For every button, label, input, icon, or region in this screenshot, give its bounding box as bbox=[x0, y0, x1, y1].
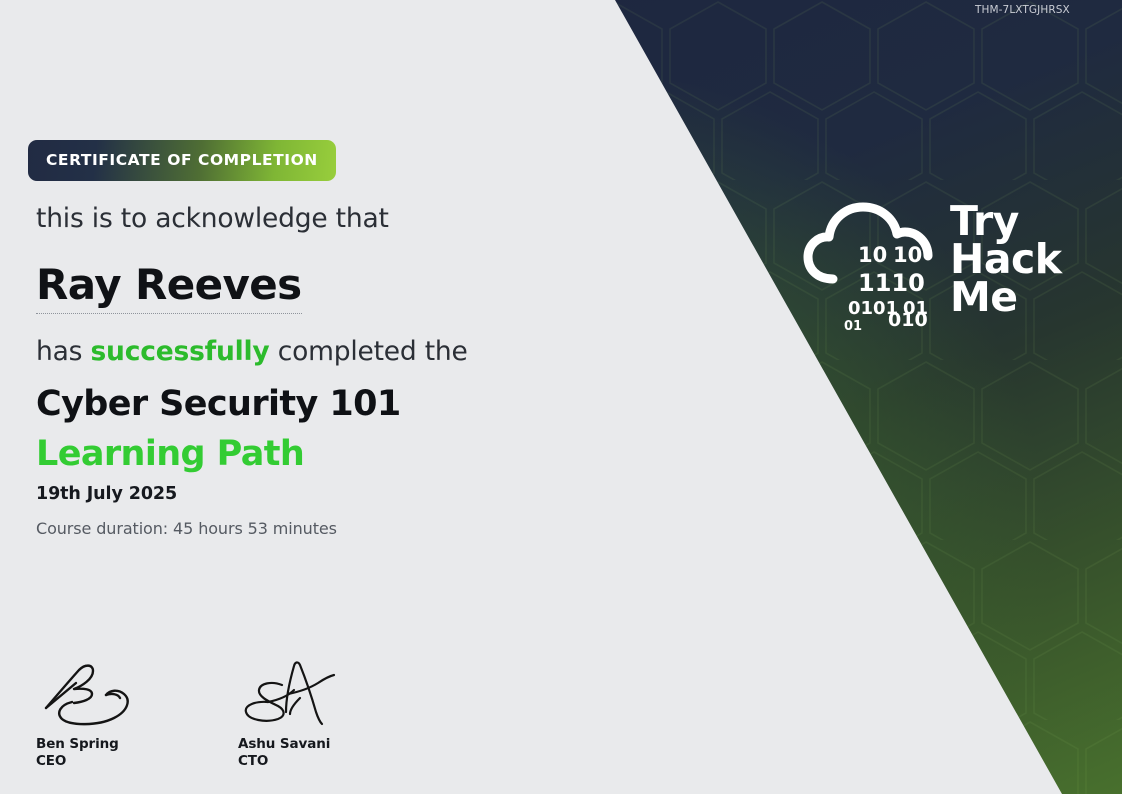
svg-text:010: 010 bbox=[888, 309, 928, 331]
signature-role-cto: CTO bbox=[238, 753, 358, 770]
wordmark-line-me: Me bbox=[950, 278, 1062, 316]
svg-text:10: 10 bbox=[893, 243, 922, 267]
recipient-block: Ray Reeves bbox=[36, 259, 302, 314]
certificate-content: CERTIFICATE OF COMPLETION this is to ack… bbox=[36, 0, 576, 794]
hexagon-pattern-icon bbox=[562, 0, 1122, 794]
completion-suffix: completed the bbox=[269, 336, 467, 367]
signature-ashu-savani-icon bbox=[238, 650, 348, 728]
signature-name-cto: Ashu Savani bbox=[238, 736, 358, 753]
signature-block-cto: Ashu Savani CTO bbox=[238, 650, 358, 770]
tryhackme-wordmark: Try Hack Me bbox=[950, 202, 1062, 316]
issue-date: 19th July 2025 bbox=[36, 484, 177, 504]
completion-highlight: successfully bbox=[90, 336, 269, 367]
certificate-id: THM-7LXTGJHRSX bbox=[975, 5, 1095, 17]
svg-text:10: 10 bbox=[858, 243, 887, 267]
cloud-binary-icon: 10 10 1110 0101 01 01 010 01 bbox=[800, 186, 940, 331]
course-title: Cyber Security 101 Learning Path bbox=[36, 379, 401, 479]
acknowledge-text: this is to acknowledge that bbox=[36, 203, 389, 234]
course-title-line-1: Cyber Security 101 bbox=[36, 379, 401, 429]
signature-name-ceo: Ben Spring bbox=[36, 736, 156, 753]
svg-text:1110: 1110 bbox=[858, 269, 925, 297]
course-duration: Course duration: 45 hours 53 minutes bbox=[36, 519, 337, 538]
recipient-underline bbox=[36, 313, 302, 314]
signature-row: Ben Spring CEO Ashu Savani CTO bbox=[36, 650, 358, 770]
svg-text:01: 01 bbox=[844, 319, 862, 331]
completion-prefix: has bbox=[36, 336, 90, 367]
decorative-panel bbox=[562, 0, 1122, 794]
signature-ben-spring-icon bbox=[36, 650, 146, 728]
course-title-line-2: Learning Path bbox=[36, 429, 401, 479]
tryhackme-logo: 10 10 1110 0101 01 01 010 01 Try Hack Me bbox=[800, 186, 1080, 336]
signature-role-ceo: CEO bbox=[36, 753, 156, 770]
signature-block-ceo: Ben Spring CEO bbox=[36, 650, 156, 770]
certificate-of-completion-badge: CERTIFICATE OF COMPLETION bbox=[28, 140, 336, 181]
recipient-name: Ray Reeves bbox=[36, 259, 302, 311]
completion-statement: has successfully completed the bbox=[36, 336, 468, 367]
certificate-canvas: THM-7LXTGJHRSX 10 10 1110 0101 01 01 010… bbox=[0, 0, 1122, 794]
